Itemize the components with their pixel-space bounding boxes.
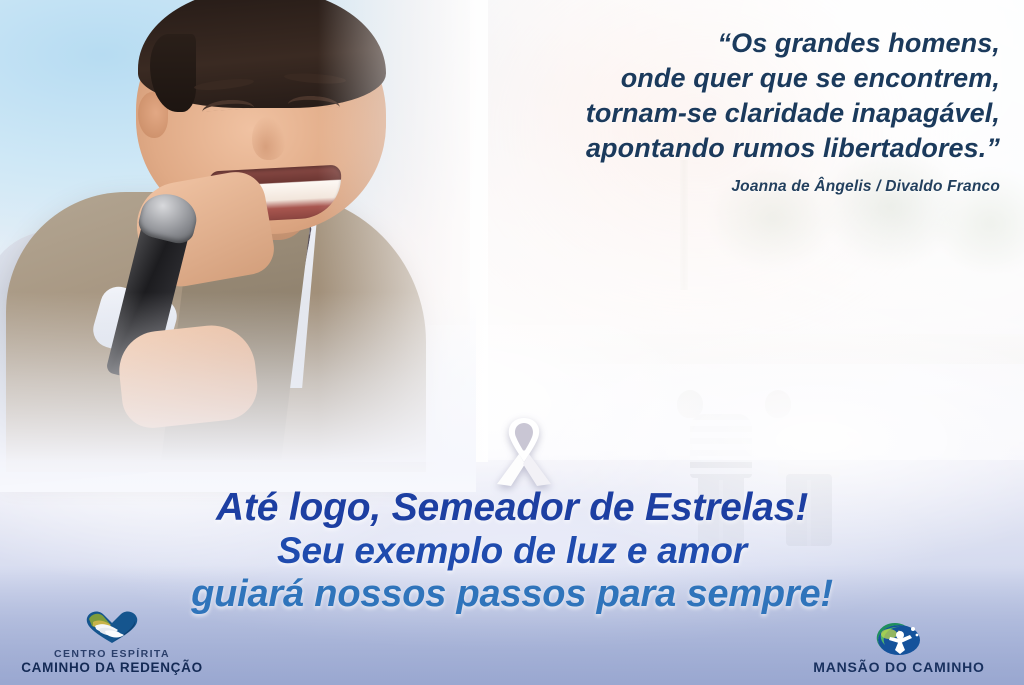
globe-figure-flame-icon — [872, 614, 926, 656]
logo-left-line-1: CENTRO ESPÍRITA — [12, 648, 212, 660]
logo-right-line-1: MANSÃO DO CAMINHO — [784, 659, 1014, 675]
poster-canvas: “Os grandes homens, onde quer que se enc… — [0, 0, 1024, 685]
headline-line-2: Seu exemplo de luz e amor — [0, 530, 1024, 572]
quote-line-3: tornam-se claridade inapagável, — [380, 96, 1000, 131]
portrait-bottom-fade — [0, 292, 476, 492]
mourning-ribbon-icon — [489, 412, 559, 490]
logo-centro-espirita: CENTRO ESPÍRITA CAMINHO DA REDENÇÃO — [12, 609, 212, 675]
heart-hands-icon — [83, 609, 141, 645]
quote-line-1: “Os grandes homens, — [380, 26, 1000, 61]
quote-line-2: onde quer que se encontrem, — [380, 61, 1000, 96]
quote-attribution: Joanna de Ângelis / Divaldo Franco — [380, 178, 1000, 196]
logo-left-line-2: CAMINHO DA REDENÇÃO — [12, 660, 212, 675]
portrait-nose — [252, 116, 286, 160]
logo-mansao-do-caminho: MANSÃO DO CAMINHO — [784, 614, 1014, 675]
headline-line-1: Até logo, Semeador de Estrelas! — [0, 486, 1024, 530]
quote-block: “Os grandes homens, onde quer que se enc… — [380, 26, 1000, 196]
headline-block: Até logo, Semeador de Estrelas! Seu exem… — [0, 486, 1024, 616]
quote-line-4: apontando rumos libertadores.” — [380, 131, 1000, 166]
